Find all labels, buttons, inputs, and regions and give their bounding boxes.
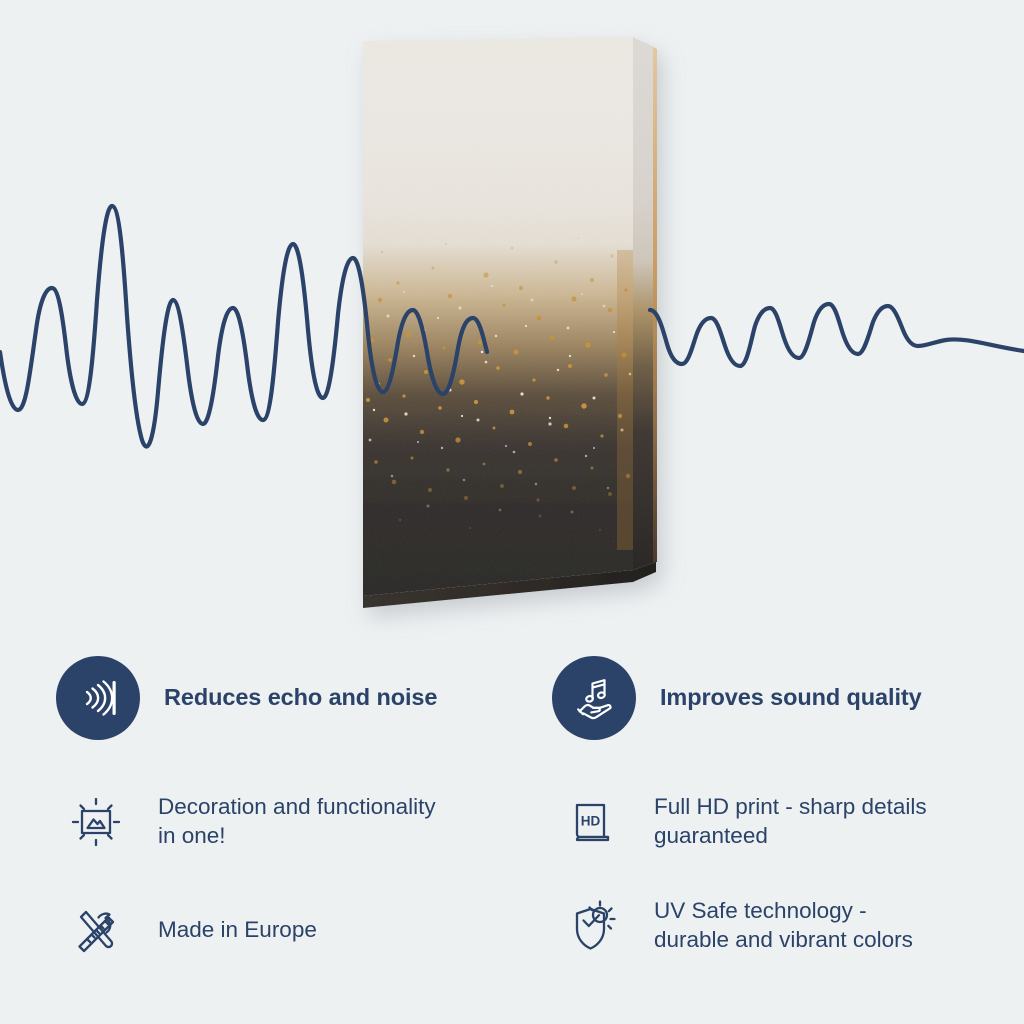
feature-decoration[interactable]: Decoration and functionality in one! — [62, 788, 436, 856]
feature-reduces-echo[interactable]: Reduces echo and noise — [56, 656, 437, 740]
feature-label: Full HD print - sharp details guaranteed — [654, 793, 927, 851]
acoustic-waveform — [0, 0, 1024, 640]
sound-waves-panel-icon — [56, 656, 140, 740]
features-section: Reduces echo and noise — [0, 636, 1024, 1024]
feature-uv-safe[interactable]: UV Safe technology - durable and vibrant… — [558, 892, 913, 960]
feature-label: Decoration and functionality in one! — [158, 793, 436, 851]
shield-check-sun-icon — [558, 892, 626, 960]
svg-text:HD: HD — [581, 814, 601, 829]
feature-improves-sound[interactable]: Improves sound quality — [552, 656, 922, 740]
hammer-ruler-icon — [62, 896, 130, 964]
feature-label: UV Safe technology - durable and vibrant… — [654, 897, 913, 955]
feature-label: Made in Europe — [158, 916, 317, 945]
feature-label: Reduces echo and noise — [164, 684, 437, 711]
hero-section — [0, 0, 1024, 640]
waveform-right-path — [650, 304, 1024, 366]
infographic-stage: Reduces echo and noise — [0, 0, 1024, 1024]
hand-music-notes-icon — [552, 656, 636, 740]
hd-print-icon: HD — [558, 788, 626, 856]
framed-picture-rays-icon — [62, 788, 130, 856]
feature-made-in-europe[interactable]: Made in Europe — [62, 896, 317, 964]
feature-full-hd-print[interactable]: HD Full HD print - sharp details guarant… — [558, 788, 927, 856]
waveform-left-path — [0, 206, 487, 447]
feature-label: Improves sound quality — [660, 684, 922, 711]
